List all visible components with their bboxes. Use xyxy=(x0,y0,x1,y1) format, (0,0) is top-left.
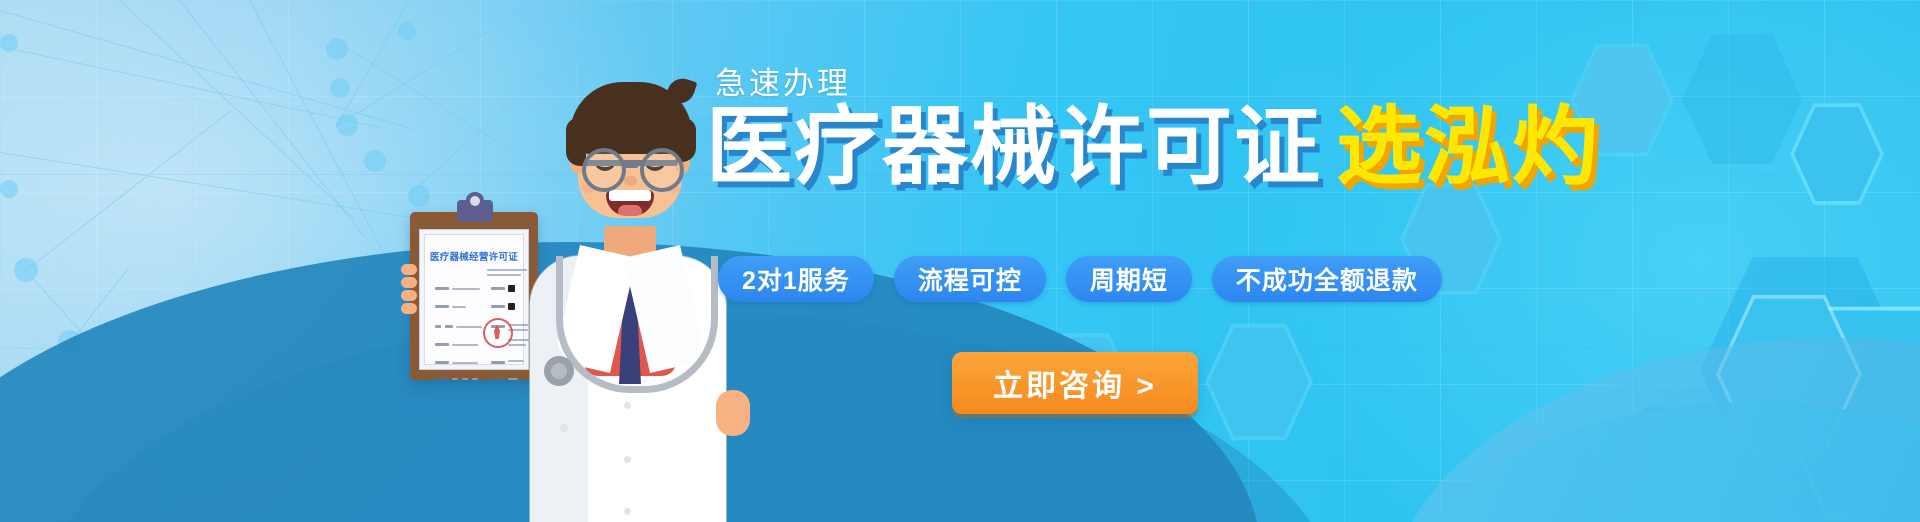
headline-highlight: 选泓灼 xyxy=(1336,99,1600,195)
eyebrow-text: 急速办理 xyxy=(715,58,851,103)
consult-now-button[interactable]: 立即咨询 > xyxy=(952,352,1198,414)
headline-primary: 医疗器械许可证 xyxy=(706,99,1322,195)
feature-tag-1[interactable]: 流程可控 xyxy=(894,256,1046,302)
feature-tag-3[interactable]: 不成功全额退款 xyxy=(1212,256,1442,302)
feature-tag-list: 2对1服务 流程可控 周期短 不成功全额退款 xyxy=(718,256,1442,302)
feature-tag-0[interactable]: 2对1服务 xyxy=(718,256,874,302)
feature-tag-2[interactable]: 周期短 xyxy=(1066,256,1192,302)
banner-content: 急速办理 医疗器械许可证选泓灼 2对1服务 流程可控 周期短 不成功全额退款 立… xyxy=(0,0,1920,522)
page-title: 医疗器械许可证选泓灼 xyxy=(706,104,1600,190)
promo-banner: 医疗器械经营许可证 xyxy=(0,0,1920,522)
